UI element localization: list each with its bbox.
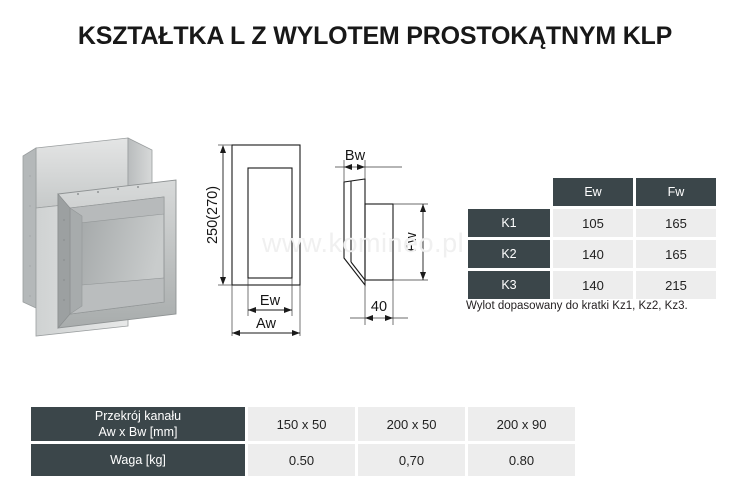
cell-k3-ew: 140 (553, 271, 633, 299)
table-header-row: Ew Fw (468, 178, 716, 206)
table-row: K2 140 165 (468, 240, 716, 268)
table-row: K1 105 165 (468, 209, 716, 237)
cell-k3-fw: 215 (636, 271, 716, 299)
dim-aw-label: Aw (256, 316, 276, 332)
cell-waga-3: 0.80 (468, 444, 575, 476)
dim-depth-label: 40 (371, 299, 387, 315)
table-row: Przekrój kanału Aw x Bw [mm] 150 x 50 20… (31, 407, 575, 441)
dim-height-label: 250(270) (205, 186, 221, 244)
dim-fw-label: Fw (404, 232, 420, 252)
cell-k2-fw: 165 (636, 240, 716, 268)
dim-bw-label: Bw (345, 148, 366, 164)
row-label-k1: K1 (468, 209, 550, 237)
product-photo (18, 136, 190, 348)
cell-przekroj-3: 200 x 90 (468, 407, 575, 441)
cell-waga-1: 0.50 (248, 444, 355, 476)
column-header-fw: Fw (636, 178, 716, 206)
kratki-table: Ew Fw K1 105 165 K2 140 165 K3 140 215 (465, 175, 719, 302)
corner-cell (468, 178, 550, 206)
spec-table: Przekrój kanału Aw x Bw [mm] 150 x 50 20… (28, 404, 578, 479)
cell-waga-2: 0,70 (358, 444, 465, 476)
spec-header-line2: Aw x Bw [mm] (32, 424, 244, 440)
table-row: K3 140 215 (468, 271, 716, 299)
dim-ew-label: Ew (260, 293, 281, 309)
cell-przekroj-2: 200 x 50 (358, 407, 465, 441)
front-view-drawing: 250(270) Ew Aw (190, 140, 340, 340)
spec-row-header-przekroj: Przekrój kanału Aw x Bw [mm] (31, 407, 245, 441)
table-row: Waga [kg] 0.50 0,70 0.80 (31, 444, 575, 476)
row-label-k3: K3 (468, 271, 550, 299)
row-label-k2: K2 (468, 240, 550, 268)
cell-przekroj-1: 150 x 50 (248, 407, 355, 441)
kratki-note: Wylot dopasowany do kratki Kz1, Kz2, Kz3… (466, 300, 688, 312)
column-header-ew: Ew (553, 178, 633, 206)
spec-header-line1: Przekrój kanału (32, 408, 244, 424)
spec-row-header-waga: Waga [kg] (31, 444, 245, 476)
cell-k1-fw: 165 (636, 209, 716, 237)
page-title: KSZTAŁTKA L Z WYLOTEM PROSTOKĄTNYM KLP (0, 22, 750, 51)
cell-k2-ew: 140 (553, 240, 633, 268)
cell-k1-ew: 105 (553, 209, 633, 237)
side-view-drawing: Bw Fw 40 (330, 140, 460, 340)
